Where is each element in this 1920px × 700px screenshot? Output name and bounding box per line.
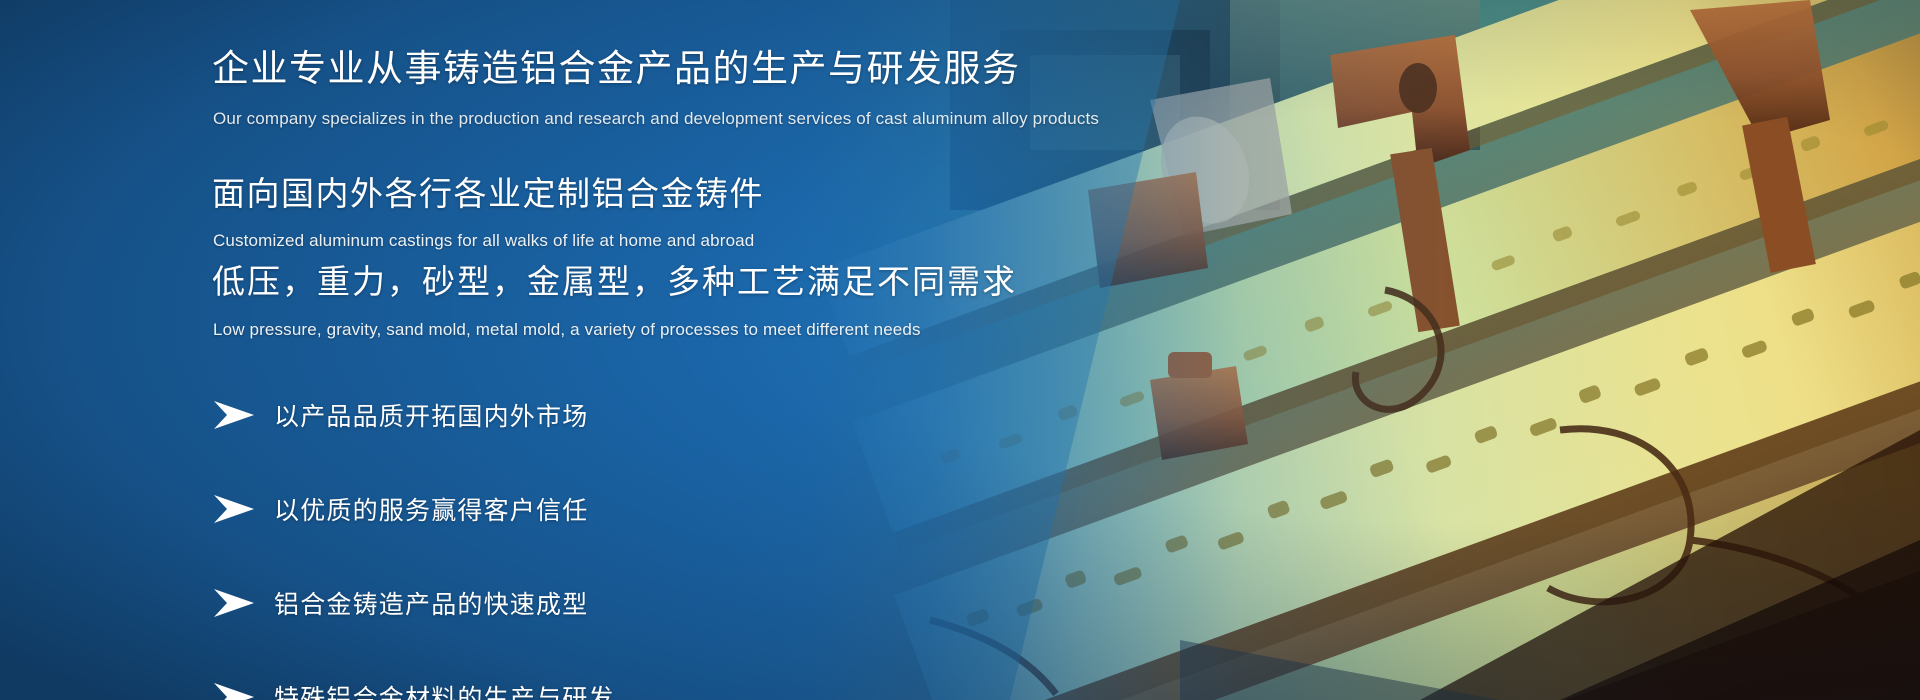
headline-secondary-en: Customized aluminum castings for all wal… bbox=[213, 231, 754, 251]
arrow-right-icon bbox=[212, 682, 256, 700]
hero-banner: 企业专业从事铸造铝合金产品的生产与研发服务 Our company specia… bbox=[0, 0, 1920, 700]
headline-tertiary-cn: 低压，重力，砂型，金属型，多种工艺满足不同需求 bbox=[212, 263, 1017, 301]
headline-primary-cn: 企业专业从事铸造铝合金产品的生产与研发服务 bbox=[212, 48, 1021, 91]
feature-list: 以产品品质开拓国内外市场 以优质的服务赢得客户信任 铝合金铸造产品的快速成型 bbox=[212, 390, 912, 700]
arrow-right-icon bbox=[212, 588, 256, 618]
list-item-label: 以产品品质开拓国内外市场 bbox=[274, 397, 588, 433]
headline-primary-en: Our company specializes in the productio… bbox=[213, 108, 1099, 130]
arrow-right-icon bbox=[212, 400, 256, 430]
arrow-right-icon bbox=[212, 494, 256, 524]
list-item: 以优质的服务赢得客户信任 bbox=[212, 484, 912, 534]
headline-tertiary-en: Low pressure, gravity, sand mold, metal … bbox=[213, 320, 921, 340]
list-item-label: 以优质的服务赢得客户信任 bbox=[274, 491, 588, 527]
banner-content: 企业专业从事铸造铝合金产品的生产与研发服务 Our company specia… bbox=[212, 0, 1462, 700]
list-item: 铝合金铸造产品的快速成型 bbox=[212, 578, 912, 628]
list-item: 以产品品质开拓国内外市场 bbox=[212, 390, 912, 440]
list-item: 特殊铝合金材料的生产与研发 bbox=[212, 672, 912, 700]
list-item-label: 特殊铝合金材料的生产与研发 bbox=[274, 679, 615, 700]
list-item-label: 铝合金铸造产品的快速成型 bbox=[274, 585, 588, 621]
headline-secondary-cn: 面向国内外各行各业定制铝合金铸件 bbox=[212, 175, 764, 213]
